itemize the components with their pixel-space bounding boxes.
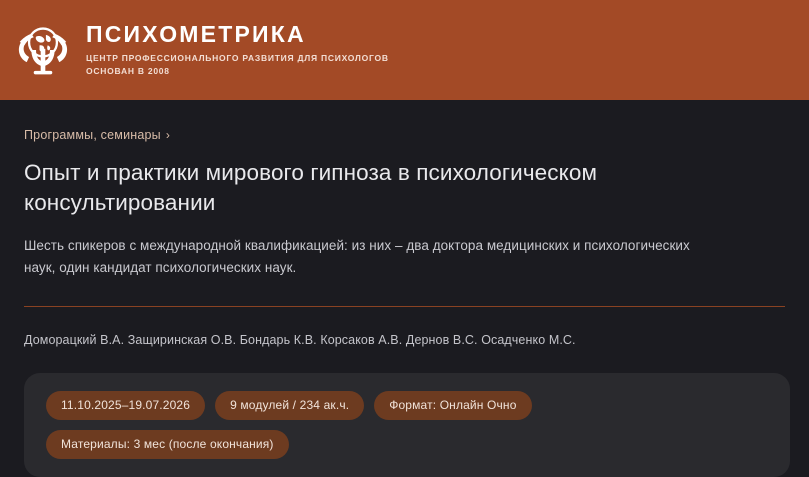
chip-dates[interactable]: 11.10.2025–19.07.2026 bbox=[46, 391, 205, 420]
brand-subtitle-line1: ЦЕНТР ПРОФЕССИОНАЛЬНОГО РАЗВИТИЯ ДЛЯ ПСИ… bbox=[86, 52, 389, 65]
brand-text: ПСИХОМЕТРИКА ЦЕНТР ПРОФЕССИОНАЛЬНОГО РАЗ… bbox=[86, 23, 389, 78]
chip-format[interactable]: Формат: Онлайн Очно bbox=[374, 391, 531, 420]
globe-psi-hands-logo-icon bbox=[14, 21, 72, 79]
speakers-list: Доморацкий В.А. Защиринская О.В. Бондарь… bbox=[24, 332, 785, 350]
course-info-card: 11.10.2025–19.07.2026 9 модулей / 234 ак… bbox=[24, 373, 790, 477]
breadcrumb-label: Программы, семинары bbox=[24, 128, 161, 142]
chip-materials[interactable]: Материалы: 3 мес (после окончания) bbox=[46, 430, 289, 459]
brand-subtitle: ЦЕНТР ПРОФЕССИОНАЛЬНОГО РАЗВИТИЯ ДЛЯ ПСИ… bbox=[86, 52, 389, 78]
page-content: Программы, семинары › Опыт и практики ми… bbox=[0, 100, 809, 477]
breadcrumb[interactable]: Программы, семинары › bbox=[24, 128, 170, 142]
chevron-right-icon: › bbox=[166, 128, 170, 142]
site-header: ПСИХОМЕТРИКА ЦЕНТР ПРОФЕССИОНАЛЬНОГО РАЗ… bbox=[0, 0, 809, 100]
chip-modules[interactable]: 9 модулей / 234 ак.ч. bbox=[215, 391, 364, 420]
brand-subtitle-line2: ОСНОВАН В 2008 bbox=[86, 65, 389, 78]
brand-title: ПСИХОМЕТРИКА bbox=[86, 23, 389, 46]
page-title: Опыт и практики мирового гипноза в психо… bbox=[24, 158, 714, 218]
course-description: Шесть спикеров с международной квалифика… bbox=[24, 235, 714, 279]
brand-logo[interactable]: ПСИХОМЕТРИКА ЦЕНТР ПРОФЕССИОНАЛЬНОГО РАЗ… bbox=[14, 21, 389, 79]
section-divider bbox=[24, 306, 785, 307]
